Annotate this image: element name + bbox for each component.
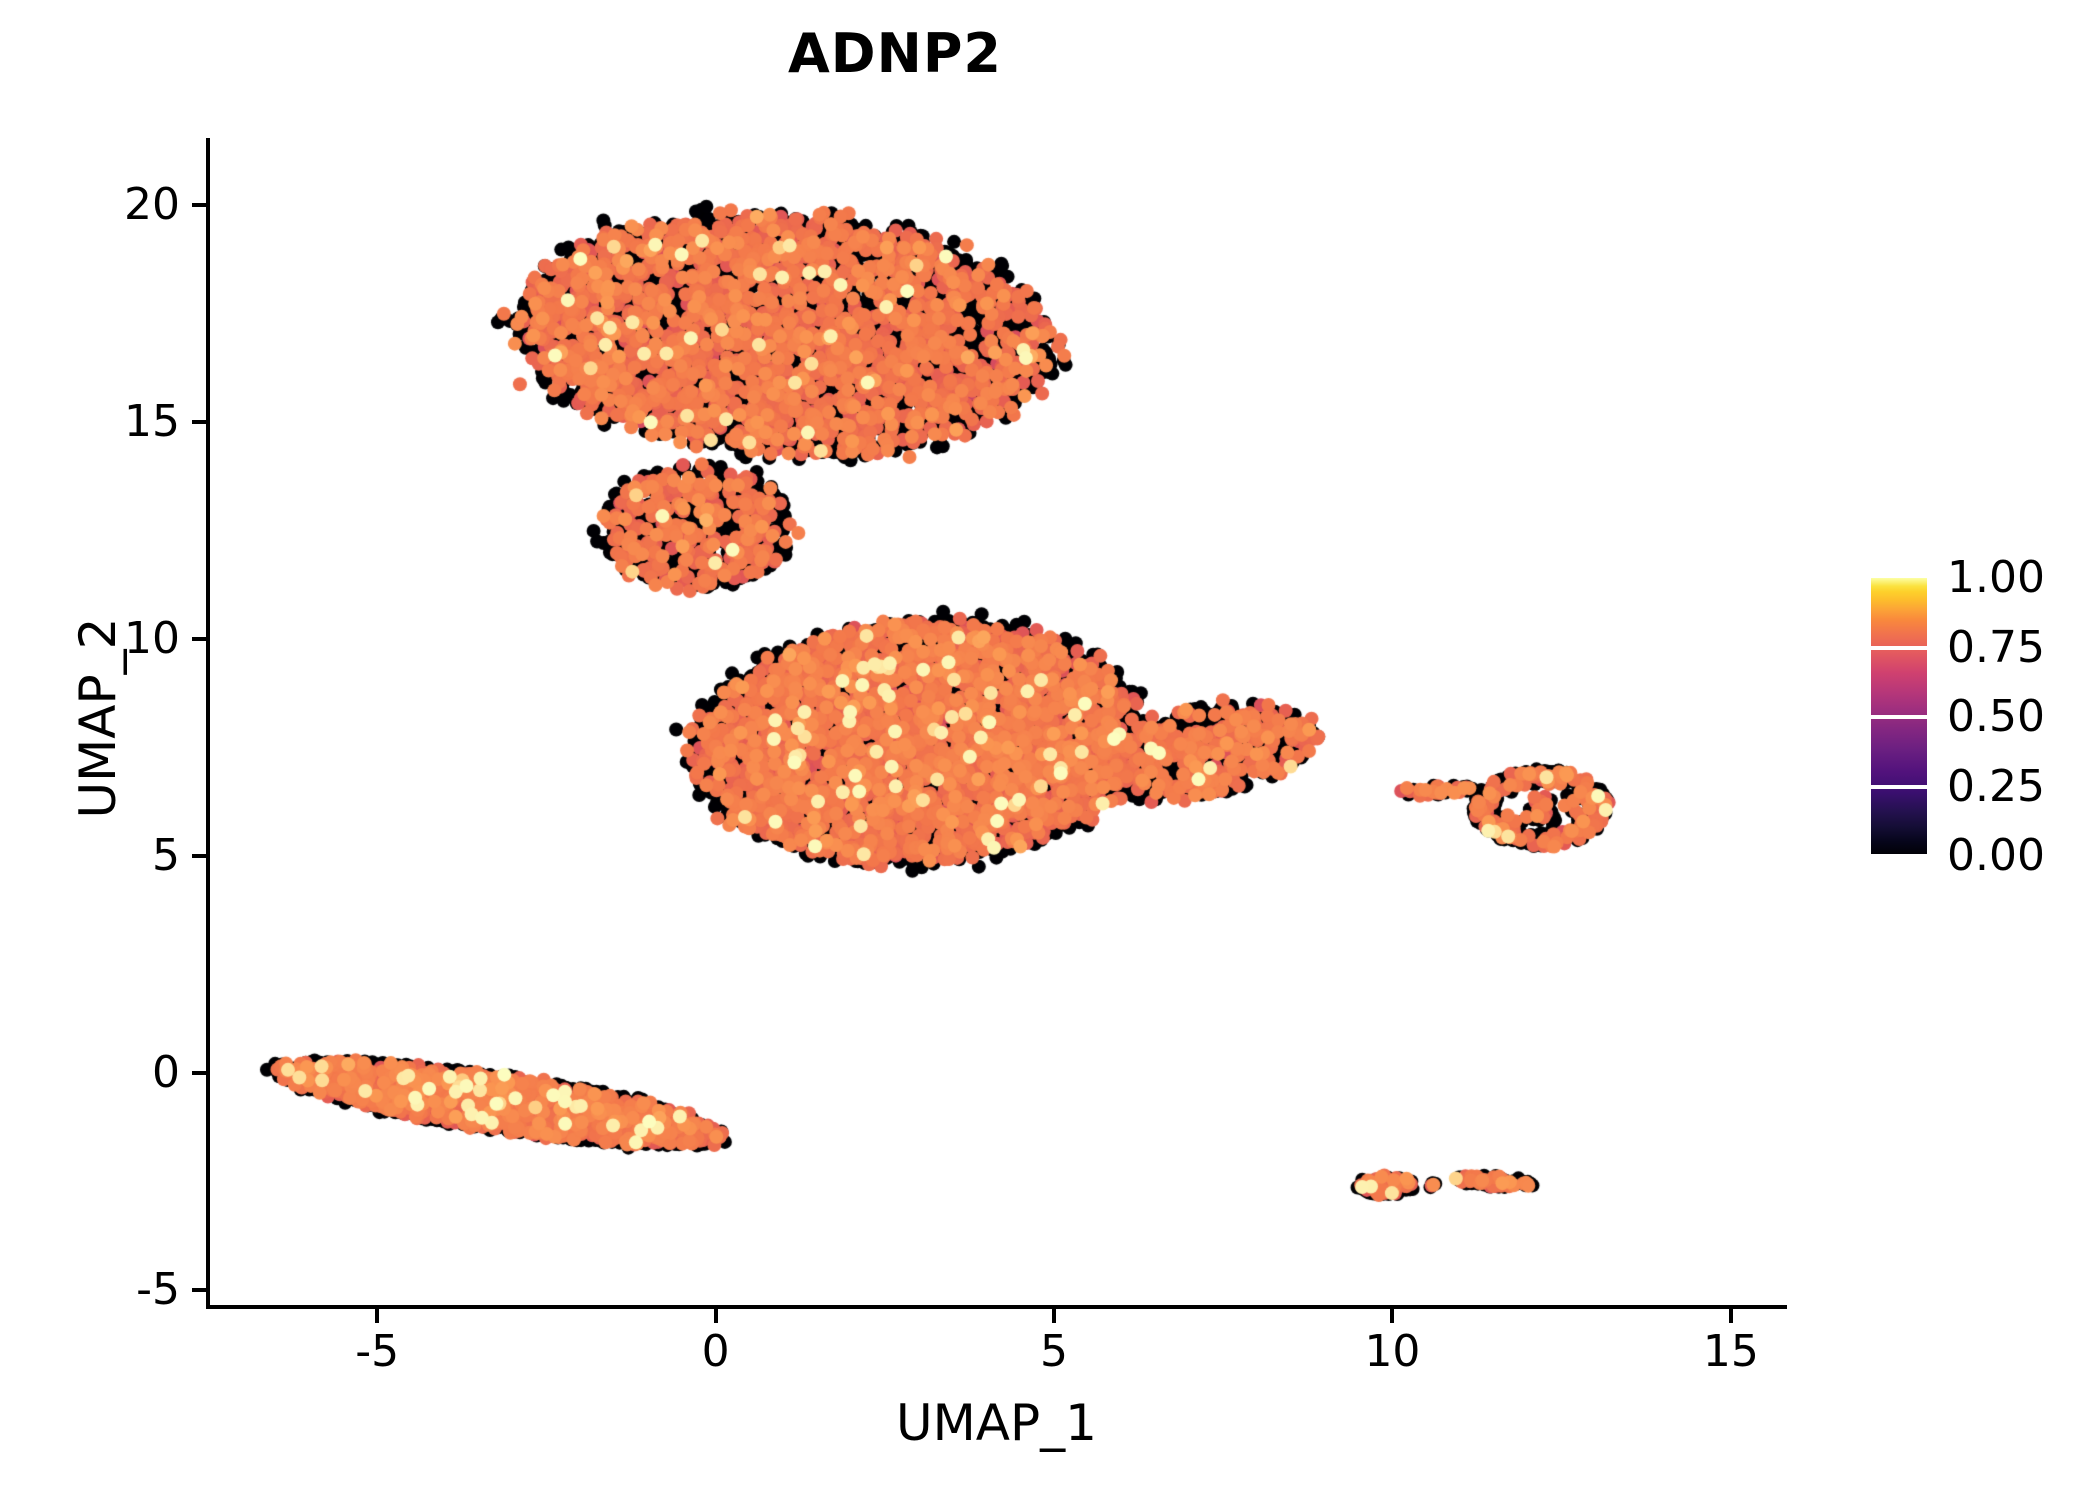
y-tick-mark xyxy=(192,1288,206,1292)
colorbar-tick-mark xyxy=(1871,854,1927,858)
colorbar-tick-label: 0.50 xyxy=(1947,695,2045,739)
x-tick-mark xyxy=(1052,1309,1056,1323)
y-axis-label: UMAP_2 xyxy=(70,508,126,928)
colorbar-tick-label: 0.00 xyxy=(1947,834,2045,878)
y-tick-mark xyxy=(192,1071,206,1075)
x-tick-mark xyxy=(1390,1309,1394,1323)
x-tick-label: -5 xyxy=(277,1330,477,1374)
y-tick-mark xyxy=(192,203,206,207)
colorbar-tick-mark xyxy=(1871,646,1927,650)
scatter-points-canvas xyxy=(208,140,1785,1307)
x-axis-label: UMAP_1 xyxy=(208,1395,1785,1451)
colorbar-tick-label: 0.75 xyxy=(1947,626,2045,670)
x-tick-label: 0 xyxy=(616,1330,816,1374)
y-tick-label: -5 xyxy=(0,1268,180,1312)
y-tick-label: 15 xyxy=(0,400,180,444)
figure-canvas: ADNP2 -505101520151050-5 UMAP_1 UMAP_2 1… xyxy=(0,0,2100,1500)
colorbar-tick-label: 1.00 xyxy=(1947,556,2045,600)
colorbar-tick-mark xyxy=(1871,715,1927,719)
y-tick-label: 0 xyxy=(0,1051,180,1095)
x-tick-label: 15 xyxy=(1631,1330,1831,1374)
page-title: ADNP2 xyxy=(0,20,1790,88)
colorbar xyxy=(1871,578,1927,856)
y-tick-mark xyxy=(192,637,206,641)
y-tick-mark xyxy=(192,854,206,858)
scatter-plot-area xyxy=(208,140,1785,1307)
x-tick-label: 5 xyxy=(954,1330,1154,1374)
colorbar-tick-mark xyxy=(1871,785,1927,789)
x-tick-mark xyxy=(375,1309,379,1323)
y-tick-mark xyxy=(192,420,206,424)
x-tick-label: 10 xyxy=(1292,1330,1492,1374)
y-tick-label: 20 xyxy=(0,183,180,227)
x-tick-mark xyxy=(714,1309,718,1323)
colorbar-tick-label: 0.25 xyxy=(1947,765,2045,809)
x-tick-mark xyxy=(1729,1309,1733,1323)
